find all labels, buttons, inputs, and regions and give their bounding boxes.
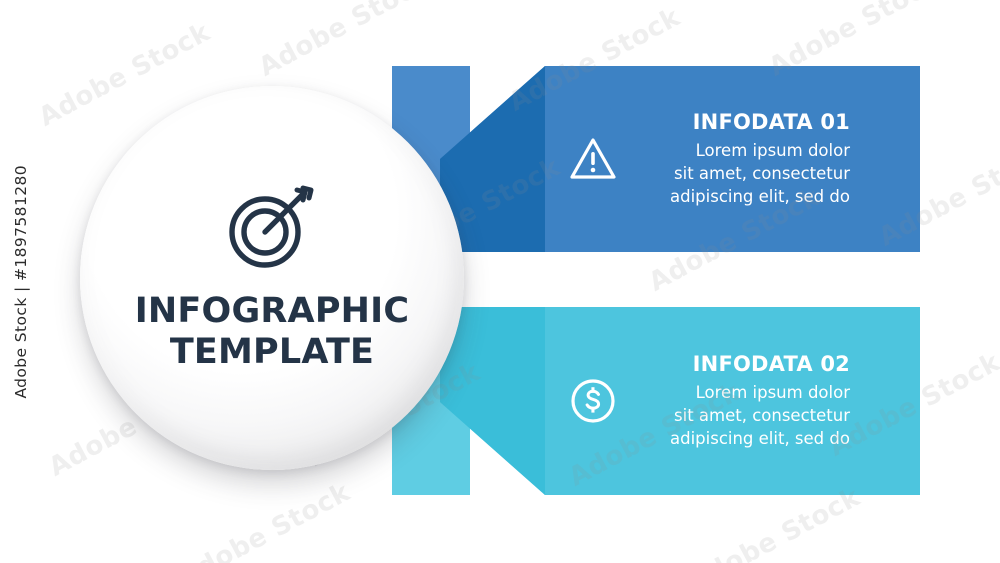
center-circle[interactable]: INFOGRAPHIC TEMPLATE [80,86,464,470]
banner-01-text-block: INFODATA 01 Lorem ipsum dolor sit amet, … [670,109,850,209]
target-arrow-icon [225,184,319,275]
banner-02-title: INFODATA 02 [670,351,850,377]
warning-triangle-icon [558,124,628,194]
banner-02-description: Lorem ipsum dolor sit amet, consectetur … [670,382,850,450]
infographic-canvas: INFODATA 01 Lorem ipsum dolor sit amet, … [0,0,1000,563]
banner-01-title: INFODATA 01 [670,109,850,135]
banner-02-text-block: INFODATA 02 Lorem ipsum dolor sit amet, … [670,351,850,451]
banner-01-description: Lorem ipsum dolor sit amet, consectetur … [670,140,850,208]
page-title: INFOGRAPHIC TEMPLATE [135,291,410,372]
dollar-circle-icon [558,366,628,436]
